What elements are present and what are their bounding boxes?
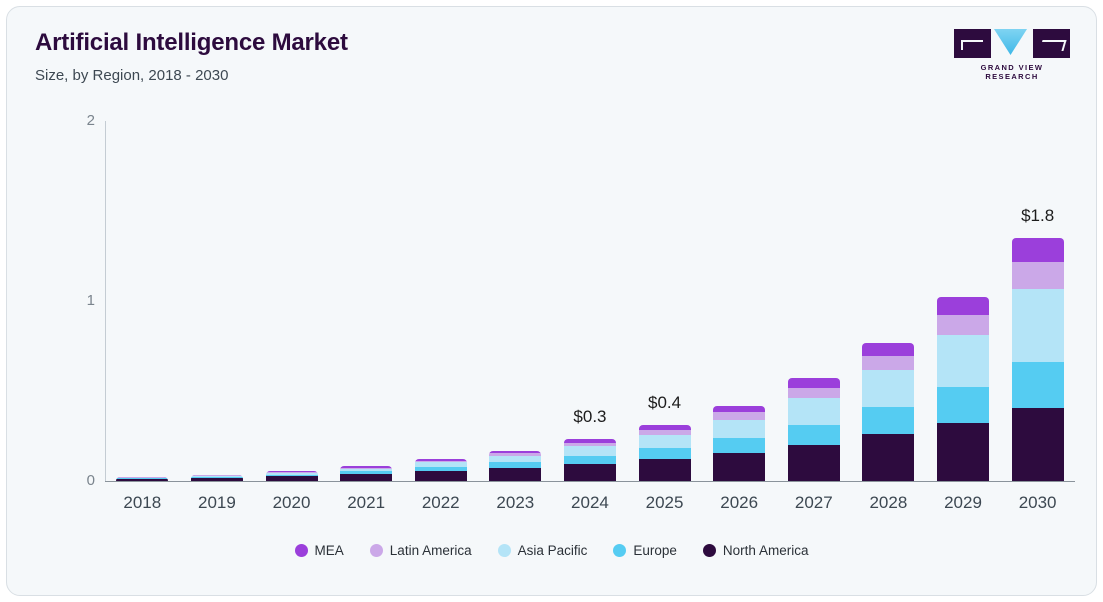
x-axis-tick-label: 2027 bbox=[795, 493, 833, 513]
bar-segment-mea[interactable] bbox=[788, 378, 840, 388]
bar-segment-north-america[interactable] bbox=[489, 468, 541, 481]
bar-stack[interactable] bbox=[489, 451, 541, 481]
legend-swatch-icon bbox=[295, 544, 308, 557]
x-axis-tick-label: 2023 bbox=[496, 493, 534, 513]
legend-swatch-icon bbox=[703, 544, 716, 557]
bar-segment-north-america[interactable] bbox=[937, 423, 989, 482]
legend-item-latin-america[interactable]: Latin America bbox=[370, 543, 472, 558]
bar-segment-asia-pacific[interactable] bbox=[639, 435, 691, 448]
legend-item-mea[interactable]: MEA bbox=[295, 543, 344, 558]
bar-column[interactable]: 2021 bbox=[329, 121, 404, 481]
bar-segment-europe[interactable] bbox=[937, 387, 989, 422]
bar-segment-north-america[interactable] bbox=[191, 478, 243, 481]
x-axis-tick-label: 2030 bbox=[1019, 493, 1057, 513]
bar-column[interactable]: 2029 bbox=[926, 121, 1001, 481]
bar-stack[interactable] bbox=[1012, 238, 1064, 481]
bar-column[interactable]: 2028 bbox=[851, 121, 926, 481]
legend-item-asia-pacific[interactable]: Asia Pacific bbox=[498, 543, 588, 558]
bar-stack[interactable] bbox=[191, 475, 243, 481]
bar-stack[interactable] bbox=[937, 297, 989, 481]
x-axis-line bbox=[105, 481, 1075, 482]
bar-segment-asia-pacific[interactable] bbox=[937, 335, 989, 387]
bar-column[interactable]: 2019 bbox=[180, 121, 255, 481]
bar-column[interactable]: $1.82030 bbox=[1000, 121, 1075, 481]
bar-segment-europe[interactable] bbox=[639, 448, 691, 459]
chart-card: Artificial Intelligence Market Size, by … bbox=[6, 6, 1097, 596]
bar-stack[interactable] bbox=[266, 471, 318, 481]
bar-segment-europe[interactable] bbox=[713, 438, 765, 453]
bar-value-label: $0.3 bbox=[573, 407, 606, 427]
bar-segment-europe[interactable] bbox=[564, 456, 616, 464]
legend-swatch-icon bbox=[613, 544, 626, 557]
x-axis-tick-label: 2024 bbox=[571, 493, 609, 513]
bar-segment-north-america[interactable] bbox=[788, 445, 840, 481]
y-axis-tick-label: 2 bbox=[61, 112, 95, 129]
legend-label: Latin America bbox=[390, 543, 472, 558]
bar-stack[interactable] bbox=[415, 459, 467, 481]
chart-plot-area: Market Size (US$T) 012 20182019202020212… bbox=[7, 7, 1096, 595]
x-axis-tick-label: 2021 bbox=[347, 493, 385, 513]
legend-swatch-icon bbox=[370, 544, 383, 557]
bar-group: 201820192020202120222023$0.32024$0.42025… bbox=[105, 121, 1075, 481]
bar-value-label: $1.8 bbox=[1021, 206, 1054, 226]
bar-stack[interactable] bbox=[564, 439, 616, 481]
bar-stack[interactable] bbox=[713, 406, 765, 481]
legend-label: Europe bbox=[633, 543, 677, 558]
legend-item-europe[interactable]: Europe bbox=[613, 543, 677, 558]
bar-segment-north-america[interactable] bbox=[564, 464, 616, 481]
bar-segment-latin-america[interactable] bbox=[937, 315, 989, 335]
y-axis-tick-label: 1 bbox=[61, 292, 95, 309]
bar-segment-mea[interactable] bbox=[937, 297, 989, 315]
legend-item-north-america[interactable]: North America bbox=[703, 543, 809, 558]
x-axis-tick-label: 2022 bbox=[422, 493, 460, 513]
bar-segment-europe[interactable] bbox=[788, 425, 840, 445]
legend-swatch-icon bbox=[498, 544, 511, 557]
bar-stack[interactable] bbox=[340, 466, 392, 481]
bar-segment-asia-pacific[interactable] bbox=[862, 370, 914, 407]
y-axis-tick-label: 0 bbox=[61, 472, 95, 489]
x-axis-tick-label: 2026 bbox=[720, 493, 758, 513]
bar-segment-mea[interactable] bbox=[713, 406, 765, 413]
chart-legend: MEALatin AmericaAsia PacificEuropeNorth … bbox=[7, 543, 1096, 558]
bar-segment-latin-america[interactable] bbox=[862, 356, 914, 370]
bar-segment-latin-america[interactable] bbox=[1012, 262, 1064, 289]
bar-column[interactable]: 2022 bbox=[403, 121, 478, 481]
bar-segment-north-america[interactable] bbox=[340, 474, 392, 481]
x-axis-tick-label: 2028 bbox=[869, 493, 907, 513]
bar-segment-asia-pacific[interactable] bbox=[788, 398, 840, 424]
x-axis-tick-label: 2025 bbox=[646, 493, 684, 513]
bar-segment-mea[interactable] bbox=[1012, 238, 1064, 262]
bar-segment-asia-pacific[interactable] bbox=[1012, 289, 1064, 362]
bar-segment-north-america[interactable] bbox=[266, 476, 318, 481]
bar-segment-north-america[interactable] bbox=[862, 434, 914, 481]
bar-stack[interactable] bbox=[116, 477, 168, 481]
bar-segment-north-america[interactable] bbox=[713, 453, 765, 481]
bar-segment-asia-pacific[interactable] bbox=[564, 446, 616, 455]
bar-column[interactable]: 2027 bbox=[776, 121, 851, 481]
bar-segment-europe[interactable] bbox=[862, 407, 914, 434]
bar-segment-north-america[interactable] bbox=[415, 471, 467, 481]
bar-column[interactable]: 2020 bbox=[254, 121, 329, 481]
bar-column[interactable]: 2018 bbox=[105, 121, 180, 481]
bar-segment-north-america[interactable] bbox=[116, 479, 168, 481]
bar-stack[interactable] bbox=[862, 343, 914, 481]
x-axis-tick-label: 2018 bbox=[123, 493, 161, 513]
bar-column[interactable]: $0.32024 bbox=[553, 121, 628, 481]
bar-segment-europe[interactable] bbox=[1012, 362, 1064, 408]
x-axis-tick-label: 2029 bbox=[944, 493, 982, 513]
legend-label: North America bbox=[723, 543, 809, 558]
x-axis-tick-label: 2020 bbox=[273, 493, 311, 513]
bar-stack[interactable] bbox=[788, 378, 840, 481]
bar-segment-latin-america[interactable] bbox=[713, 412, 765, 419]
bar-value-label: $0.4 bbox=[648, 393, 681, 413]
bar-column[interactable]: $0.42025 bbox=[627, 121, 702, 481]
bar-column[interactable]: 2026 bbox=[702, 121, 777, 481]
bar-segment-north-america[interactable] bbox=[639, 459, 691, 481]
legend-label: Asia Pacific bbox=[518, 543, 588, 558]
bar-segment-north-america[interactable] bbox=[1012, 408, 1064, 481]
bar-column[interactable]: 2023 bbox=[478, 121, 553, 481]
bar-stack[interactable] bbox=[639, 425, 691, 481]
bar-segment-asia-pacific[interactable] bbox=[713, 420, 765, 439]
x-axis-tick-label: 2019 bbox=[198, 493, 236, 513]
legend-label: MEA bbox=[315, 543, 344, 558]
bar-segment-mea[interactable] bbox=[862, 343, 914, 356]
bar-segment-latin-america[interactable] bbox=[788, 388, 840, 398]
